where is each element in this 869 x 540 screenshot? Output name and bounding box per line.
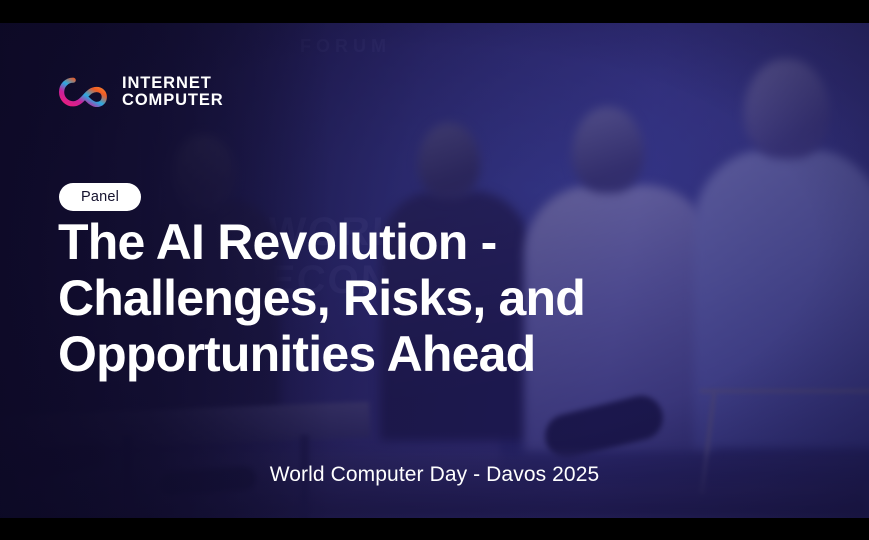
title-line-2: Challenges, Risks, and	[58, 271, 698, 327]
wordmark-line-2: COMPUTER	[122, 92, 224, 109]
title-line-1: The AI Revolution -	[58, 215, 698, 271]
presentation-slide: FORUM WORLD ECONO	[0, 0, 869, 540]
slide-title: The AI Revolution - Challenges, Risks, a…	[58, 215, 698, 382]
title-line-3: Opportunities Ahead	[58, 327, 698, 383]
infinity-icon	[59, 77, 111, 107]
session-type-badge: Panel	[59, 183, 141, 211]
letterbox-bar-bottom	[0, 518, 869, 540]
internet-computer-logo: INTERNET COMPUTER	[59, 75, 224, 109]
event-caption: World Computer Day - Davos 2025	[0, 463, 869, 487]
brand-wordmark: INTERNET COMPUTER	[122, 75, 224, 109]
letterbox-bar-top	[0, 0, 869, 23]
slide-content: INTERNET COMPUTER Panel The AI Revolutio…	[0, 23, 869, 518]
wordmark-line-1: INTERNET	[122, 75, 224, 92]
